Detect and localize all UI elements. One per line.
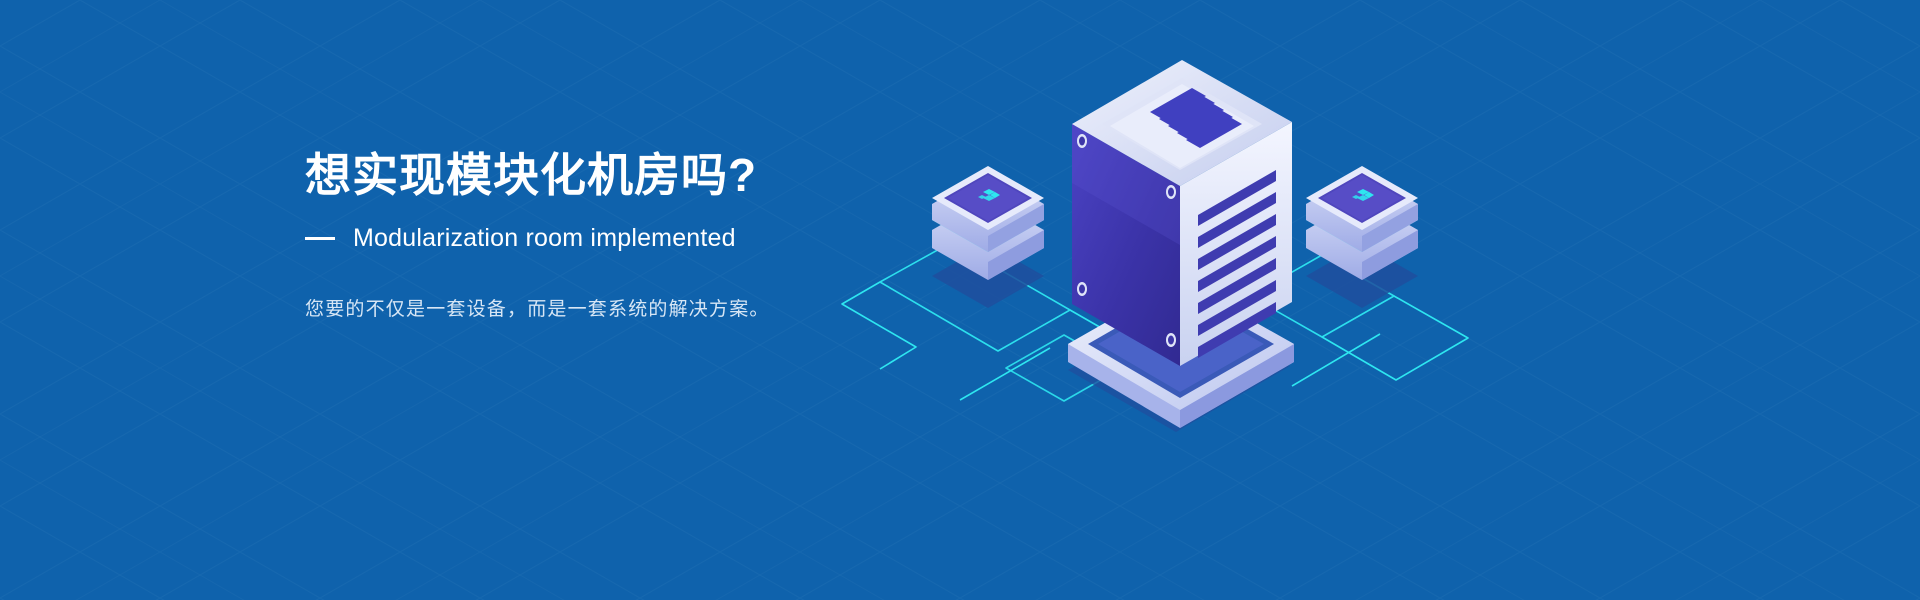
isometric-server-room-illustration xyxy=(820,70,1560,430)
hero-banner: 想实现模块化机房吗? Modularization room implement… xyxy=(0,0,1920,600)
subtitle-text: Modularization room implemented xyxy=(353,224,736,253)
chip-module-left xyxy=(932,166,1044,280)
chip-module-right xyxy=(1306,166,1418,280)
dash-divider-icon xyxy=(305,237,335,240)
server-rack-tower xyxy=(1068,60,1294,428)
